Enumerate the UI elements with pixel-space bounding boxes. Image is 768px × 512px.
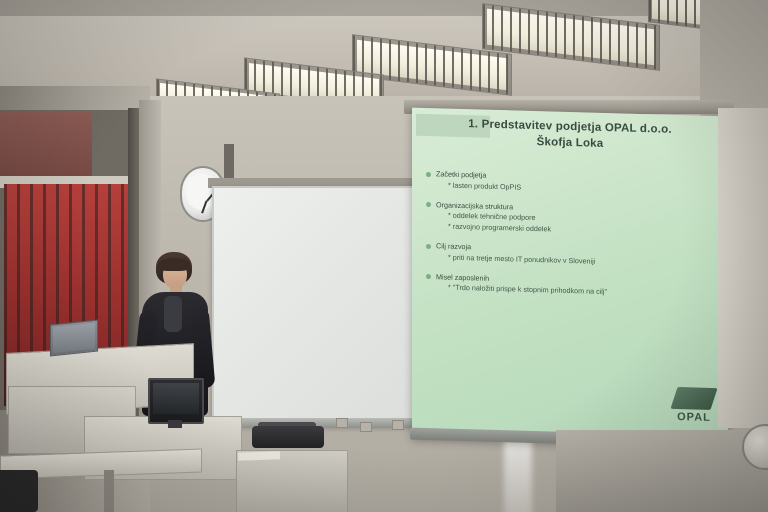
paper-sheet bbox=[238, 451, 280, 460]
monitor-screen bbox=[153, 383, 199, 414]
laptop bbox=[50, 319, 98, 356]
slide-bullets: Začetki podjetja * lasten produkt OpPIS … bbox=[426, 169, 714, 301]
chair bbox=[0, 470, 38, 512]
presenter-hair-front bbox=[158, 258, 190, 271]
monitor bbox=[148, 378, 204, 424]
bullet-head-text: Začetki podjetja bbox=[436, 169, 486, 179]
wall-outlet bbox=[336, 418, 348, 428]
bullet-head-text: Cilj razvoja bbox=[436, 241, 471, 251]
slide-content: 1. Predstavitev podjetja OPAL d.o.o. Ško… bbox=[412, 108, 728, 447]
slide-title-line1: 1. Predstavitev podjetja OPAL d.o.o. bbox=[468, 118, 672, 136]
bullet-head-text: Misel zaposlenih bbox=[436, 272, 489, 282]
bullet-dot-icon bbox=[426, 274, 431, 279]
lower-right-cabinet bbox=[556, 430, 768, 512]
opal-logo-text: OPAL bbox=[674, 411, 714, 424]
bullet-dot-icon bbox=[426, 244, 431, 249]
laptop-screen bbox=[53, 323, 95, 353]
bullet-head-text: Organizacijska struktura bbox=[436, 200, 513, 211]
table-leg bbox=[104, 470, 114, 512]
window-blind bbox=[0, 112, 92, 184]
classroom-photo: 1. Predstavitev podjetja OPAL d.o.o. Ško… bbox=[0, 0, 768, 512]
bullet-dot-icon bbox=[426, 202, 431, 207]
slide-title: 1. Predstavitev podjetja OPAL d.o.o. Ško… bbox=[426, 116, 714, 155]
wall-outlet bbox=[392, 420, 404, 430]
whiteboard bbox=[212, 186, 424, 426]
opal-logo: OPAL bbox=[674, 387, 714, 424]
right-wall-panel bbox=[718, 108, 768, 428]
projector bbox=[252, 426, 324, 448]
bullet-dot-icon bbox=[426, 172, 431, 177]
projection-screen: 1. Predstavitev podjetja OPAL d.o.o. Ško… bbox=[412, 108, 728, 447]
presenter-shirt bbox=[164, 296, 182, 332]
wall-outlet bbox=[360, 422, 372, 432]
opal-logo-mark-icon bbox=[670, 387, 717, 410]
monitor-stand bbox=[168, 420, 182, 428]
